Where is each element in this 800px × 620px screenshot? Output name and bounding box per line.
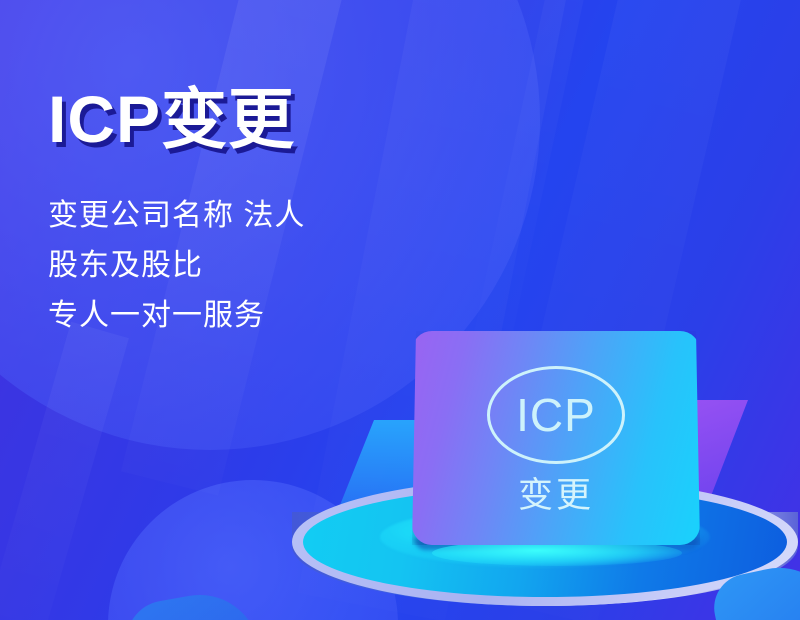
icp-badge-label: ICP xyxy=(516,392,596,438)
subtitle-line-2: 股东及股比 xyxy=(48,241,448,291)
icp-badge-icon: ICP xyxy=(487,366,625,464)
icp-card-caption: 变更 xyxy=(518,478,594,513)
headline-block: ICP变更 变更公司名称 法人 股东及股比 专人一对一服务 xyxy=(48,84,448,341)
subtitle-list: 变更公司名称 法人 股东及股比 专人一对一服务 xyxy=(48,191,448,341)
icp-card: ICP 变更 xyxy=(412,331,700,545)
subtitle-line-1: 变更公司名称 法人 xyxy=(48,191,448,241)
icp-change-promo-banner: ICP变更 变更公司名称 法人 股东及股比 专人一对一服务 ICP 变更 xyxy=(0,0,800,620)
icp-card-content: ICP 变更 xyxy=(412,331,700,545)
page-title: ICP变更 xyxy=(48,84,448,155)
subtitle-line-3: 专人一对一服务 xyxy=(48,291,448,341)
